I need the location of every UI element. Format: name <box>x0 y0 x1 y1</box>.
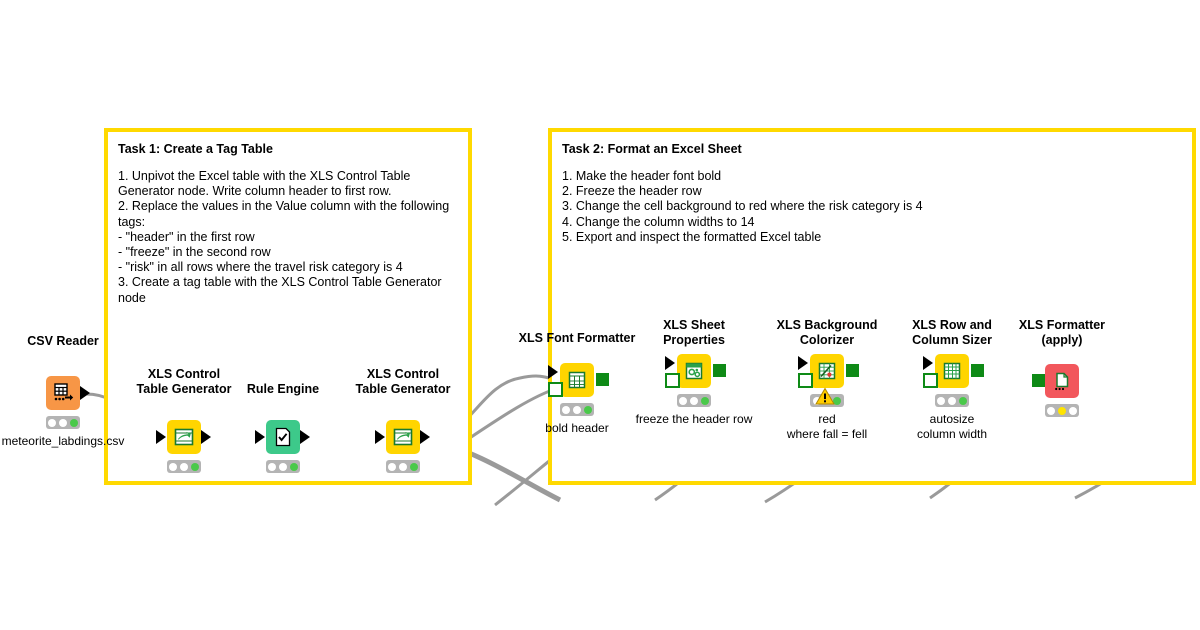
status-lamp-idle <box>937 397 945 405</box>
node-rule-engine-output-port[interactable] <box>300 430 310 444</box>
status-lamp-idle <box>268 463 276 471</box>
node-xls-background-colorizer-side-input-port[interactable] <box>798 373 813 388</box>
status-lamp-idle <box>1047 407 1055 415</box>
node-xls-sheet-properties-input-port[interactable] <box>665 356 675 370</box>
node-rule-engine-body[interactable] <box>266 420 300 454</box>
xls-font-icon <box>567 370 587 390</box>
node-xls-font-formatter-body[interactable] <box>560 363 594 397</box>
status-lamp-executed <box>290 463 298 471</box>
node-rule-engine[interactable]: Rule Engine <box>266 402 300 436</box>
node-xls-control-table-generator-1[interactable]: XLS Control Table Generator <box>167 402 201 436</box>
node-csv-reader-status <box>46 416 80 429</box>
node-xls-font-formatter-status <box>560 403 594 416</box>
status-lamp-idle <box>279 463 287 471</box>
node-xls-background-colorizer-body[interactable] <box>810 354 844 388</box>
status-lamp-executed <box>191 463 199 471</box>
node-csv-reader-body[interactable] <box>46 376 80 410</box>
status-lamp-configured <box>1058 407 1066 415</box>
node-xls-control-table-generator-2-status <box>386 460 420 473</box>
node-xls-sheet-properties[interactable]: XLS Sheet Properties freeze the header r… <box>677 336 711 370</box>
node-xls-sheet-properties-side-input-port[interactable] <box>665 373 680 388</box>
xls-sheet-arrow-icon <box>392 426 414 448</box>
status-lamp-idle <box>562 406 570 414</box>
node-xls-control-table-generator-2-input-port[interactable] <box>375 430 385 444</box>
node-xls-formatter-apply-status <box>1045 404 1079 417</box>
node-xls-control-table-generator-2-output-port[interactable] <box>420 430 430 444</box>
node-xls-font-formatter-side-input-port[interactable] <box>548 382 563 397</box>
xls-colorizer-icon <box>817 361 837 381</box>
status-lamp-executed <box>959 397 967 405</box>
status-lamp-executed <box>584 406 592 414</box>
node-xls-sheet-properties-output-port[interactable] <box>713 364 726 377</box>
node-xls-formatter-apply-label: XLS Formatter (apply) <box>982 318 1142 347</box>
node-xls-control-table-generator-1-input-port[interactable] <box>156 430 166 444</box>
node-xls-background-colorizer-input-port[interactable] <box>798 356 808 370</box>
xls-gear-sheet-icon <box>684 361 704 381</box>
node-xls-control-table-generator-1-output-port[interactable] <box>201 430 211 444</box>
node-rule-engine-status <box>266 460 300 473</box>
node-xls-row-and-column-sizer-sublabel: autosize column width <box>867 412 1037 441</box>
node-xls-row-and-column-sizer[interactable]: XLS Row and Column Sizer autosize column… <box>935 336 969 370</box>
node-xls-row-and-column-sizer-body[interactable] <box>935 354 969 388</box>
status-lamp-idle <box>399 463 407 471</box>
annotation-task-2-title: Task 2: Format an Excel Sheet <box>562 142 1182 157</box>
status-lamp-executed <box>701 397 709 405</box>
node-xls-font-formatter-output-port[interactable] <box>596 373 609 386</box>
rule-document-check-icon <box>273 427 293 447</box>
annotation-task-2-body: 1. Make the header font bold 2. Freeze t… <box>562 169 1182 245</box>
node-xls-control-table-generator-2-body[interactable] <box>386 420 420 454</box>
status-lamp-idle <box>59 419 67 427</box>
annotation-task-1-title: Task 1: Create a Tag Table <box>118 142 458 157</box>
node-xls-control-table-generator-1-status <box>167 460 201 473</box>
status-lamp-idle <box>679 397 687 405</box>
node-csv-reader-sublabel: meteorite_labdings.csv <box>0 434 158 449</box>
node-xls-row-and-column-sizer-input-port[interactable] <box>923 356 933 370</box>
node-xls-font-formatter-input-port[interactable] <box>548 365 558 379</box>
xls-grid-sizer-icon <box>942 361 962 381</box>
node-xls-background-colorizer[interactable]: XLS Background Colorizer red where <box>810 336 844 370</box>
status-lamp-idle <box>48 419 56 427</box>
status-lamp-idle <box>169 463 177 471</box>
node-xls-control-table-generator-2-label: XLS Control Table Generator <box>323 367 483 396</box>
warning-icon <box>815 386 835 406</box>
node-csv-reader[interactable]: CSV Reader meteorite_labdings.csv <box>46 358 80 392</box>
node-xls-row-and-column-sizer-side-input-port[interactable] <box>923 373 938 388</box>
node-csv-reader-label: CSV Reader <box>0 334 133 349</box>
status-lamp-idle <box>948 397 956 405</box>
status-lamp-executed <box>70 419 78 427</box>
node-xls-row-and-column-sizer-output-port[interactable] <box>971 364 984 377</box>
node-xls-sheet-properties-status <box>677 394 711 407</box>
status-lamp-idle <box>573 406 581 414</box>
node-xls-formatter-apply[interactable]: XLS Formatter (apply) <box>1045 346 1079 380</box>
node-xls-font-formatter[interactable]: XLS Font Formatter bold header <box>560 345 594 379</box>
node-xls-row-and-column-sizer-status <box>935 394 969 407</box>
xls-sheet-arrow-icon <box>173 426 195 448</box>
status-lamp-executed <box>410 463 418 471</box>
table-reader-icon <box>52 382 74 404</box>
status-lamp-idle <box>180 463 188 471</box>
status-lamp-idle <box>690 397 698 405</box>
node-xls-formatter-apply-input-port[interactable] <box>1032 374 1045 387</box>
node-rule-engine-input-port[interactable] <box>255 430 265 444</box>
node-xls-control-table-generator-1-body[interactable] <box>167 420 201 454</box>
node-xls-background-colorizer-output-port[interactable] <box>846 364 859 377</box>
status-lamp-idle <box>388 463 396 471</box>
node-csv-reader-output-port[interactable] <box>80 386 90 400</box>
node-xls-sheet-properties-body[interactable] <box>677 354 711 388</box>
node-xls-control-table-generator-2[interactable]: XLS Control Table Generator <box>386 402 420 436</box>
node-xls-formatter-apply-body[interactable] <box>1045 364 1079 398</box>
xls-apply-document-icon <box>1052 371 1072 391</box>
status-lamp-idle <box>1069 407 1077 415</box>
annotation-task-1-body: 1. Unpivot the Excel table with the XLS … <box>118 169 458 306</box>
